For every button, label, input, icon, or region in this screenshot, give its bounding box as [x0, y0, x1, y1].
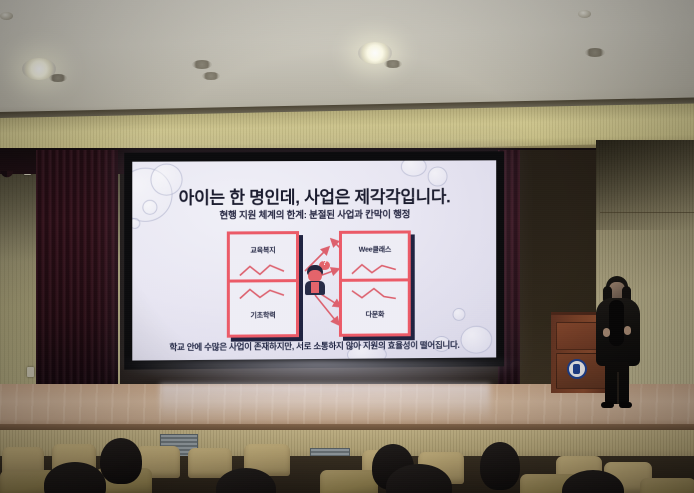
slide-surface: 아이는 한 명인데, 사업은 제각각입니다. 현행 지원 체계의 한계: 분절된… — [132, 160, 496, 360]
slide-diagram: 교육복지 Wee클래스 기초학력 — [132, 226, 496, 338]
auditorium-photo: 아이는 한 명인데, 사업은 제각각입니다. 현행 지원 체계의 한계: 분절된… — [0, 0, 694, 493]
slide-subtitle: 현행 지원 체계의 한계: 분절된 사업과 칸막이 행정 — [132, 206, 496, 222]
projection-screen: 아이는 한 명인데, 사업은 제각각입니다. 현행 지원 체계의 한계: 분절된… — [124, 151, 504, 369]
audience-head — [100, 438, 142, 484]
presenter-hand — [624, 326, 631, 335]
character-shirt — [311, 282, 319, 293]
slide-title: 아이는 한 명인데, 사업은 제각각입니다. — [132, 182, 496, 209]
stage-curtain-left — [36, 150, 118, 388]
diagram-box-bottom-left: 기초학력 — [227, 279, 299, 338]
zigzag-icon — [350, 261, 400, 277]
ceiling-downlight-off — [49, 74, 67, 82]
presenter-hand — [603, 328, 610, 337]
smoke-detector-icon — [0, 12, 13, 20]
diagram-box-label: Wee클래스 — [342, 244, 408, 254]
diagram-box-label: 다문화 — [342, 309, 408, 319]
right-wall-shading — [596, 140, 694, 230]
zigzag-icon — [238, 286, 288, 302]
presenter-shoe — [601, 402, 614, 408]
ceiling-downlight-off — [202, 72, 220, 80]
screen-glow — [120, 360, 520, 394]
ceiling-downlight-off — [192, 60, 212, 69]
audience-seat — [640, 478, 694, 493]
wall-outlet — [27, 367, 34, 377]
podium-emblem-icon — [567, 359, 587, 379]
wall-panel-seam — [600, 212, 694, 213]
presenter-shoe — [619, 402, 632, 408]
zigzag-icon — [238, 262, 288, 278]
diagram-box-bottom-right: 다문화 — [339, 278, 411, 336]
bubble-decoration — [401, 160, 427, 176]
presenter — [588, 276, 646, 410]
ceiling-downlight-off — [384, 60, 402, 68]
presenter-leg-gap — [617, 372, 619, 404]
diagram-box-label: 기초학력 — [230, 310, 296, 321]
student-character-icon — [304, 265, 326, 295]
smoke-detector-icon — [578, 10, 591, 18]
diagram-box-label: 교육복지 — [230, 245, 296, 255]
ceiling-downlight-off — [585, 48, 605, 57]
presenter-scarf — [609, 300, 624, 346]
audience-seat — [320, 470, 378, 493]
audience-head — [480, 442, 520, 490]
zigzag-icon — [350, 285, 400, 301]
